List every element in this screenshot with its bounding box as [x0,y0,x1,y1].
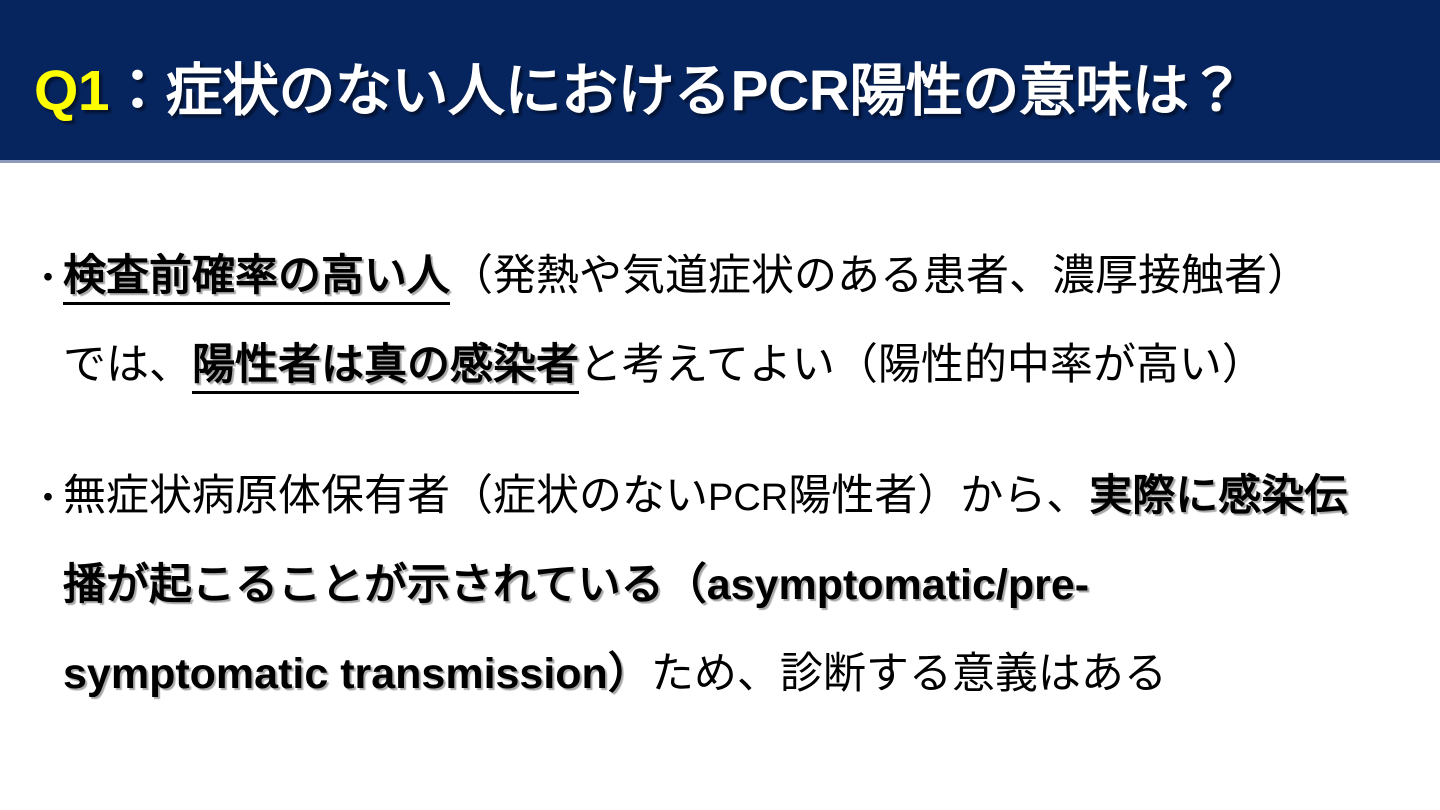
bullet-2-latin-1: PCR [708,477,788,519]
bullet-2-text-1: 無症状病原体保有者（症状のない [63,472,708,520]
bullet-1-text-2: では、 [63,341,192,389]
bullet-1-line-1: ・検査前確率の高い人（発熱や気道症状のある患者、濃厚接触者） [30,232,1420,321]
bullet-2-line-2: 播が起こることが示されている（asymptomatic/pre- [30,541,1420,630]
bullet-2-text-3: ため、診断する意義はある [651,650,1167,698]
title-question-text: ：症状のない人におけるPCR陽性の意味は？ [109,59,1245,123]
bullet-2-latin-2: asymptomatic/pre- [707,561,1089,609]
bullet-2-text-2: 陽性者）から、 [788,472,1089,520]
bullet-1-text-1: （発熱や気道症状のある患者、濃厚接触者） [450,252,1310,300]
bullet-2-line-1: ・無症状病原体保有者（症状のないPCR陽性者）から、実際に感染伝 [30,452,1420,541]
bullet-2-line-3: symptomatic transmission）ため、診断する意義はある [30,630,1420,719]
bullet-2-latin-3: symptomatic transmission [63,650,608,698]
bullet-1-text-3: と考えてよい（陽性的中率が高い） [579,341,1265,389]
bullet-1-emphasis-2: 陽性者は真の感染者 [192,341,579,394]
bullet-item-2: ・無症状病原体保有者（症状のないPCR陽性者）から、実際に感染伝 播が起こること… [30,452,1420,719]
bullet-marker-icon: ・ [30,453,63,542]
bullet-marker-icon: ・ [30,233,63,322]
bullet-1-line-2: では、陽性者は真の感染者と考えてよい（陽性的中率が高い） [30,321,1420,410]
bullet-2-emphasis-2: 播が起こることが示されている（ [63,561,707,609]
slide-title: Q1：症状のない人におけるPCR陽性の意味は？ [34,56,1414,126]
bullet-1-emphasis-1: 検査前確率の高い人 [63,252,450,305]
bullet-2-emphasis-3: ） [608,650,651,698]
bullet-item-1: ・検査前確率の高い人（発熱や気道症状のある患者、濃厚接触者） では、陽性者は真の… [30,232,1420,410]
slide-body: ・検査前確率の高い人（発熱や気道症状のある患者、濃厚接触者） では、陽性者は真の… [0,160,1440,810]
title-question-number: Q1 [34,59,109,123]
bullet-2-emphasis-1: 実際に感染伝 [1089,472,1347,520]
